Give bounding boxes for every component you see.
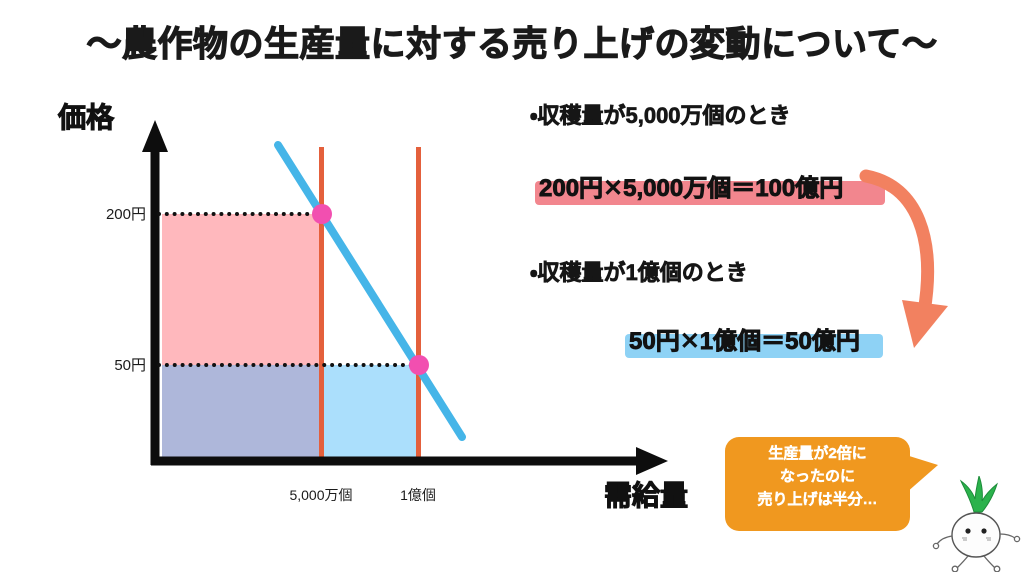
y-tick-50yen: 50円 bbox=[84, 354, 146, 375]
bubble-line-1: 生産量が2倍に bbox=[731, 443, 904, 466]
equation-first: 200円✕5,000万個＝100億円 bbox=[535, 168, 847, 203]
equilibrium-point-a bbox=[312, 204, 332, 224]
bubble-line-2: なったのに bbox=[731, 466, 904, 489]
guide-line-200yen bbox=[157, 212, 325, 216]
y-tick-200yen: 200円 bbox=[84, 203, 146, 224]
x-axis-label: 需給量 bbox=[604, 474, 688, 514]
supply-demand-chart: 価格 需給量 200円 50円 5,000万個 1億個 bbox=[0, 0, 700, 576]
x-tick-50million: 5,000万個 bbox=[261, 485, 381, 505]
equilibrium-point-b bbox=[409, 355, 429, 375]
x-tick-100million: 1億個 bbox=[374, 485, 462, 505]
turnip-character-icon bbox=[930, 476, 1022, 572]
equation-second-wrapper: 50円✕1億個＝50億円 bbox=[625, 321, 864, 356]
curved-arrow-icon bbox=[840, 160, 960, 380]
note-bullet-second: ・収穫量が1億個のとき bbox=[530, 255, 748, 287]
slide-canvas: 〜農作物の生産量に対する売り上げの変動について〜 価格 需給量 bbox=[0, 0, 1024, 576]
note-bullet-first: ・収穫量が5,000万個のとき bbox=[530, 98, 791, 130]
speech-bubble: 生産量が2倍に なったのに 売り上げは半分… bbox=[725, 437, 910, 531]
bubble-line-3: 売り上げは半分… bbox=[731, 489, 904, 512]
equation-first-wrapper: 200円✕5,000万個＝100億円 bbox=[535, 168, 847, 203]
y-axis-label: 価格 bbox=[58, 96, 114, 136]
guide-line-50yen bbox=[157, 363, 421, 367]
equation-second: 50円✕1億個＝50億円 bbox=[625, 321, 864, 356]
